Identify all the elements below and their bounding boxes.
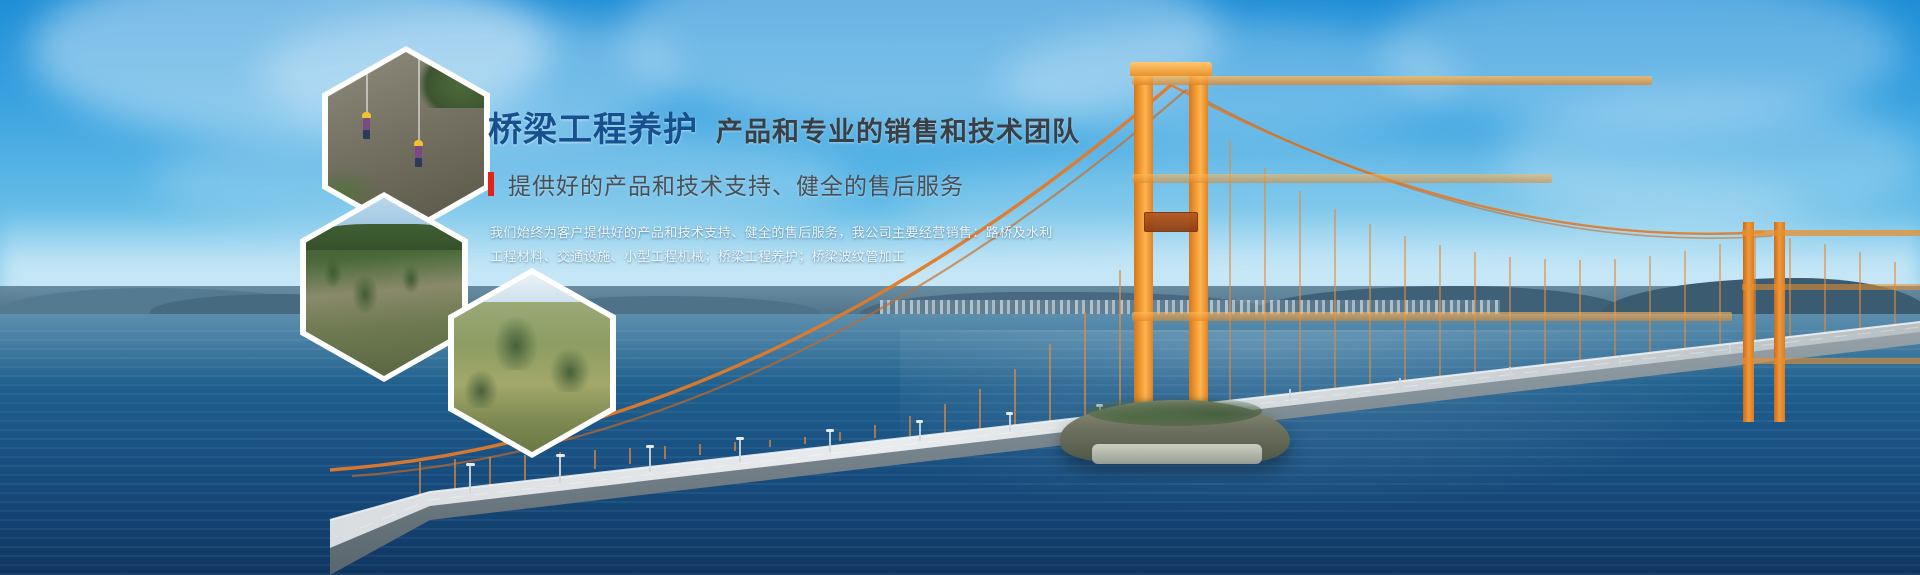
photo-sky xyxy=(454,274,610,302)
tagline-accent-bar xyxy=(488,172,494,196)
pier-vegetation xyxy=(1086,396,1262,426)
worker-figure xyxy=(362,112,371,138)
description-line-2: 工程材料、交通设施、小型工程机械；桥梁工程养护；桥梁波纹管加工 xyxy=(490,245,890,269)
banner-description: 我们始终为客户提供好的产品和技术支持、健全的售后服务，我公司主要经营销售：路桥及… xyxy=(490,221,890,269)
worker-figure xyxy=(414,140,423,166)
tower-leg xyxy=(1774,222,1785,422)
tower-crossbeam xyxy=(1742,284,1920,290)
pier-base xyxy=(1092,444,1262,464)
worker-legs xyxy=(415,158,422,167)
tagline-text: 提供好的产品和技术支持、健全的售后服务 xyxy=(508,167,964,201)
hero-banner: 桥梁工程养护 产品和专业的销售和技术团队 提供好的产品和技术支持、健全的售后服务… xyxy=(0,0,1920,575)
tower-leg xyxy=(1743,222,1754,422)
bridge-far-tower xyxy=(1740,222,1788,422)
shrub xyxy=(550,348,590,392)
banner-tagline: 提供好的产品和技术支持、健全的售后服务 xyxy=(488,167,1208,201)
headline-sub: 产品和专业的销售和技术团队 xyxy=(716,118,1080,148)
worker-legs xyxy=(363,130,370,139)
headline-main: 桥梁工程养护 xyxy=(488,112,698,149)
tower-crossbeam xyxy=(1742,358,1920,364)
tower-cap xyxy=(1130,62,1212,76)
shrub xyxy=(494,316,538,370)
tree xyxy=(402,264,420,294)
tower-crossbeam xyxy=(1132,312,1732,321)
safety-rope xyxy=(366,52,368,114)
tree xyxy=(324,258,342,288)
banner-headline: 桥梁工程养护 产品和专业的销售和技术团队 xyxy=(488,112,1208,149)
tower-crossbeam xyxy=(1132,76,1652,85)
shrub xyxy=(464,370,498,408)
description-line-1: 我们始终为客户提供好的产品和技术支持、健全的售后服务，我公司主要经营销售：路桥及… xyxy=(490,221,890,245)
banner-text-content: 桥梁工程养护 产品和专业的销售和技术团队 提供好的产品和技术支持、健全的售后服务… xyxy=(488,112,1208,269)
safety-rope xyxy=(418,52,420,142)
tower-crossbeam xyxy=(1742,230,1920,236)
tree xyxy=(352,274,378,314)
suspension-bridge xyxy=(0,0,1920,575)
